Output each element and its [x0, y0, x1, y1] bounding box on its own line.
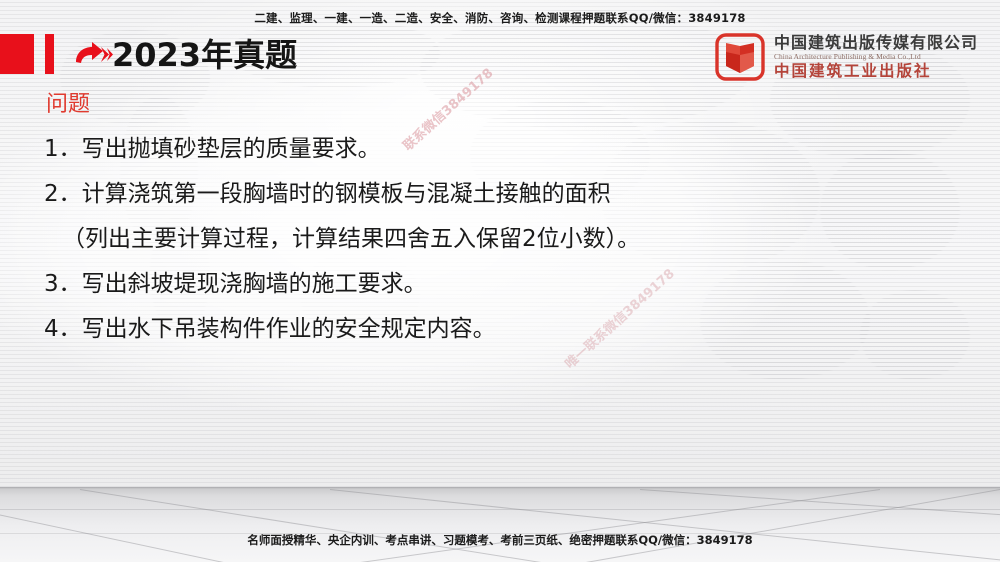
publisher-logo-text: 中国建筑出版传媒有限公司 China Architecture Publishi…: [774, 33, 978, 81]
publisher-press-cn: 中国建筑工业出版社: [774, 62, 978, 81]
publisher-company-en: China Architecture Publishing & Media Co…: [774, 52, 978, 62]
page-title: 2023年真题: [112, 33, 297, 77]
section-label: 问题: [46, 86, 90, 118]
top-banner-text: 二建、监理、一建、一造、二造、安全、消防、咨询、检测课程押题联系QQ/微信：38…: [0, 10, 1000, 26]
background-floor: [0, 487, 1000, 562]
double-chevron-arrow-icon: [74, 41, 114, 71]
publisher-company-cn: 中国建筑出版传媒有限公司: [774, 33, 978, 52]
red-bar-decoration: [45, 34, 54, 74]
open-book-logo-icon: [715, 33, 765, 81]
red-block-decoration: [0, 34, 34, 74]
question-item: 4．写出水下吊装构件作业的安全规定内容。: [44, 307, 944, 352]
slide-root: 二建、监理、一建、一造、二造、安全、消防、咨询、检测课程押题联系QQ/微信：38…: [0, 0, 1000, 562]
question-item: 1．写出抛填砂垫层的质量要求。: [44, 127, 944, 172]
question-item: 2．计算浇筑第一段胸墙时的钢模板与混凝土接触的面积: [44, 172, 944, 217]
publisher-logo: 中国建筑出版传媒有限公司 China Architecture Publishi…: [715, 31, 978, 83]
footer-text: 名师面授精华、央企内训、考点串讲、习题模考、考前三页纸、绝密押题联系QQ/微信：…: [0, 532, 1000, 548]
question-item: 3．写出斜坡堤现浇胸墙的施工要求。: [44, 262, 944, 307]
question-list: 1．写出抛填砂垫层的质量要求。 2．计算浇筑第一段胸墙时的钢模板与混凝土接触的面…: [44, 127, 944, 352]
question-item: （列出主要计算过程，计算结果四舍五入保留2位小数）。: [44, 217, 944, 262]
